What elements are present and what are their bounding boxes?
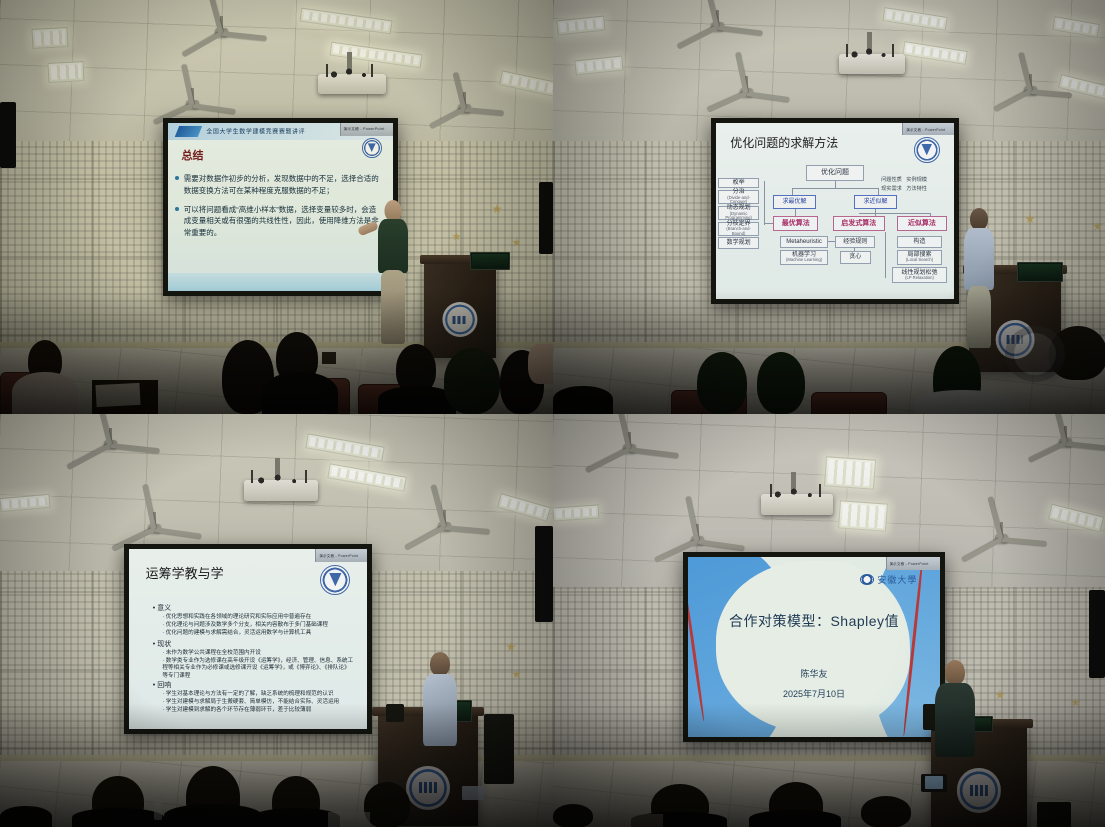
node-label-en: (Divide-and-Conquer) xyxy=(721,196,755,205)
diagram-node-divide-conquer: 分治 (Divide-and-Conquer) xyxy=(718,190,758,204)
diagram-node-machine-learning: 机器学习 (Machine Learning) xyxy=(780,250,828,265)
slide-subitem: · 学生对建模与求解局于生搬硬套、简单模仿，不能结合实际、灵活运用 xyxy=(162,699,352,707)
diagram-node-metaheuristic: Metaheuristic xyxy=(780,236,828,248)
meta-term: 问题性质 xyxy=(881,177,902,183)
ceiling-light xyxy=(838,500,888,531)
audience-head xyxy=(697,352,747,414)
slide-footer-band xyxy=(168,273,393,291)
node-label: 枚举 xyxy=(733,180,745,186)
slide-subitem: · 优化问题的建模与求解需结合，灵活运用数学与计算机工具 xyxy=(162,630,350,638)
presenter-torso xyxy=(423,674,457,746)
diagram-node-lp-relaxation: 线性规划松弛 (LP Relaxation) xyxy=(892,267,947,283)
slide-or-teaching: 演示文稿 - PowerPoint 运筹学教与学 • 意义 · 优化思想和实践在… xyxy=(129,549,367,729)
diagram-node-optimal-solution: 求最优解 xyxy=(773,195,816,209)
ceiling-fan xyxy=(957,522,1045,558)
ceiling-fan xyxy=(673,10,761,46)
window-label: 演示文稿 - PowerPoint xyxy=(319,553,367,558)
window-label: 演示文稿 - PowerPoint xyxy=(344,127,394,132)
presenter-legs xyxy=(381,270,405,344)
audience-head xyxy=(553,804,593,827)
audience-shoulders xyxy=(164,804,262,827)
node-label: 近似算法 xyxy=(908,220,936,227)
presenter-head xyxy=(385,200,402,221)
diagram-meta-terms: 问题性质 实例规模 现实需求 方法特性 xyxy=(864,176,945,194)
diagram-node-branch-bound: 分枝定界 (Branch-and-Bound) xyxy=(718,222,758,236)
presenter-head xyxy=(970,208,988,230)
microphone-base xyxy=(386,704,404,722)
photo-collage-grid: 全国大学生数学建模竞赛赛题讲评 演示文稿 - PowerPoint 总结 需要对… xyxy=(0,0,1105,827)
audience-laptop xyxy=(328,812,370,827)
powerpoint-window-bar: 演示文稿 - PowerPoint xyxy=(886,557,940,570)
node-label-en: (Machine Learning) xyxy=(786,258,822,262)
banner-title: 全国大学生数学建模竞赛赛题讲评 xyxy=(206,127,305,136)
slide-author: 陈华友 xyxy=(688,667,940,680)
meta-term: 方法特性 xyxy=(906,186,927,192)
audience-shoulders xyxy=(72,808,164,827)
diagram-connector xyxy=(764,181,765,225)
ceiling-fan xyxy=(150,88,234,122)
diagram-node-dynamic-programming: 动态规划 (Dynamic Programming) xyxy=(718,206,758,220)
camera-screen xyxy=(925,776,943,789)
diagram-node-construction: 构造 xyxy=(897,236,942,248)
diagram-connector xyxy=(885,232,886,278)
presenter-torso xyxy=(378,219,408,273)
audience-shoulders xyxy=(252,808,340,827)
projection-screen-frame: 全国大学生数学建模竞赛赛题讲评 演示文稿 - PowerPoint 总结 需要对… xyxy=(163,118,398,296)
podium-laptop xyxy=(470,252,510,270)
projection-screen-frame: 演示文稿 - PowerPoint 安徽大學 合作对策模型：Shapley值 陈… xyxy=(683,552,945,742)
camera-lens xyxy=(1005,326,1065,382)
diagram-connector xyxy=(878,188,879,195)
podium-laptop xyxy=(1017,262,1063,282)
node-label: 构造 xyxy=(913,239,925,245)
presenter-torso xyxy=(964,228,994,290)
audience-head xyxy=(757,352,805,414)
water-bottle xyxy=(154,800,162,820)
audience-hand xyxy=(528,344,553,384)
university-seal-icon xyxy=(914,137,940,163)
diagram-node-approx-solution: 求近似解 xyxy=(854,195,897,209)
powerpoint-window-bar: 演示文稿 - PowerPoint xyxy=(902,123,954,135)
wall-speaker xyxy=(0,102,16,168)
audience-head xyxy=(364,782,410,827)
diagram-root-node: 优化问题 xyxy=(806,165,863,181)
audience-shoulders xyxy=(0,806,52,827)
powerpoint-window-bar: 演示文稿 - PowerPoint xyxy=(340,123,394,136)
diagram-connector xyxy=(859,213,930,214)
diagram-node-heuristic-algorithm: 启发式算法 xyxy=(833,216,885,231)
slide-subitem: · 优化思想和实践在各领域的理论研究和实际应用中普遍存在 xyxy=(162,614,350,622)
diagram-connector xyxy=(835,181,836,188)
window-label: 演示文稿 - PowerPoint xyxy=(906,127,954,132)
slide-optimization-methods: 演示文稿 - PowerPoint 优化问题的求解方法 问题性质 实例规模 现实… xyxy=(716,123,954,299)
ceiling-fan xyxy=(1025,426,1105,458)
diagram-node-greedy: 贪心 xyxy=(840,251,871,263)
audience-shoulders xyxy=(553,386,613,414)
presenter xyxy=(931,660,979,820)
photo-panel-bottom-left[interactable]: 演示文稿 - PowerPoint 运筹学教与学 • 意义 · 优化思想和实践在… xyxy=(0,414,553,827)
photo-panel-bottom-right[interactable]: 演示文稿 - PowerPoint 安徽大學 合作对策模型：Shapley值 陈… xyxy=(553,414,1105,827)
slide-section-heading: • 现状 xyxy=(153,639,171,649)
photo-panel-top-left[interactable]: 全国大学生数学建模竞赛赛题讲评 演示文稿 - PowerPoint 总结 需要对… xyxy=(0,0,553,414)
ceiling-fan xyxy=(176,16,266,52)
node-label-en: (Branch-and-Bound) xyxy=(721,227,755,236)
bullet-text: 需要对数据作初步的分析，发现数据中的不足，选择合适的数据变换方法可在某种程度克服… xyxy=(184,174,379,195)
lecture-hall-room: 演示文稿 - PowerPoint 安徽大學 合作对策模型：Shapley值 陈… xyxy=(553,414,1105,827)
projection-screen: 演示文稿 - PowerPoint 运筹学教与学 • 意义 · 优化思想和实践在… xyxy=(129,549,367,729)
ceiling-fan xyxy=(581,432,677,470)
slide-subitem: · 数学类专业作为选修课在高年级开设《运筹学》，经济、管理、信息、系统工程等相关… xyxy=(162,658,355,681)
diagram-connector xyxy=(854,248,855,252)
audience-shoulders xyxy=(12,372,78,414)
node-label: 数学规划 xyxy=(727,240,751,246)
paper-cup xyxy=(356,356,366,370)
wall-speaker xyxy=(539,182,553,254)
bullet-text: 可以将问题看成“高维小样本”数据，选择变量较多时，会造成变量相关或有很强的共线性… xyxy=(184,205,379,237)
slide-title: 总结 xyxy=(182,147,204,163)
audience-shoulders xyxy=(262,372,338,414)
university-seal-icon xyxy=(320,565,350,595)
university-logo-icon xyxy=(860,574,874,585)
node-label: 求近似解 xyxy=(863,199,887,205)
diagram-connector xyxy=(792,188,793,195)
wall-speaker xyxy=(535,526,553,622)
ceiling-fan xyxy=(400,510,488,546)
meta-term: 现实需求 xyxy=(881,186,902,192)
ceiling-projector xyxy=(761,482,833,516)
node-label: 启发式算法 xyxy=(841,220,876,227)
diagram-node-empirical-rule: 经验规则 xyxy=(835,236,875,248)
ceiling-fan xyxy=(424,92,504,124)
audience-head xyxy=(861,796,911,827)
projection-screen-frame: 演示文稿 - PowerPoint 运筹学教与学 • 意义 · 优化思想和实践在… xyxy=(124,544,372,734)
ceiling-projector xyxy=(244,468,318,502)
lecture-hall-room: 演示文稿 - PowerPoint 运筹学教与学 • 意义 · 优化思想和实践在… xyxy=(0,414,553,827)
node-label: 求最优解 xyxy=(783,199,807,205)
diagram-connector xyxy=(792,188,878,189)
ceiling-projector xyxy=(839,42,905,74)
node-label-en: (Local Search) xyxy=(906,258,933,262)
presenter-head xyxy=(945,660,965,685)
lecture-hall-room: 演示文稿 - PowerPoint 优化问题的求解方法 问题性质 实例规模 现实… xyxy=(553,0,1105,414)
node-label: 最优算法 xyxy=(782,220,810,227)
slide-title-shapley: 演示文稿 - PowerPoint 安徽大學 合作对策模型：Shapley值 陈… xyxy=(688,557,940,737)
paper-on-desk xyxy=(95,383,140,407)
slide-main-title: 合作对策模型：Shapley值 xyxy=(688,611,940,631)
slide-inner-panel xyxy=(716,561,910,734)
audience-chair xyxy=(811,392,887,414)
meta-term: 实例规模 xyxy=(906,177,927,183)
projection-screen: 演示文稿 - PowerPoint 优化问题的求解方法 问题性质 实例规模 现实… xyxy=(716,123,954,299)
presenter xyxy=(959,208,999,348)
podium-university-seal xyxy=(442,302,477,337)
diagram-node-enumerate: 枚举 xyxy=(718,178,758,189)
ceiling-fan xyxy=(703,76,789,110)
presenter xyxy=(372,200,414,350)
projection-screen: 演示文稿 - PowerPoint 安徽大學 合作对策模型：Shapley值 陈… xyxy=(688,557,940,737)
slide-subitem: · 优化理论与问题涉及数学多个分支，相关内容散布于多门基础课程 xyxy=(162,622,350,630)
projection-screen-frame: 演示文稿 - PowerPoint 优化问题的求解方法 问题性质 实例规模 现实… xyxy=(711,118,959,304)
diagram-node-approx-algorithm: 近似算法 xyxy=(897,216,947,231)
audience-head xyxy=(444,348,500,414)
banner-flash-shape xyxy=(175,126,202,137)
slide-subitem: · 未作为数学公共课程在全校范围内开设 xyxy=(162,650,350,658)
ceiling-light xyxy=(48,61,85,83)
node-label: Metaheuristic xyxy=(786,239,822,245)
diagram-node-math-programming: 数学规划 xyxy=(718,237,758,248)
slide-section-heading: • 意义 xyxy=(153,603,171,613)
node-label-en: (LP Relaxation) xyxy=(905,276,934,280)
audience-shoulders xyxy=(915,390,1011,414)
audience-shoulders xyxy=(749,810,841,827)
ceiling-fan xyxy=(62,428,158,466)
slide-title: 优化问题的求解方法 xyxy=(730,134,838,151)
node-label: 贪心 xyxy=(849,254,861,260)
wall-speaker xyxy=(1089,590,1105,678)
slide-bullet: 可以将问题看成“高维小样本”数据，选择变量较多时，会造成变量相关或有很强的共线性… xyxy=(184,204,380,239)
university-seal-icon xyxy=(362,138,382,158)
university-logo: 安徽大學 xyxy=(860,573,917,586)
photo-panel-top-right[interactable]: 演示文稿 - PowerPoint 优化问题的求解方法 问题性质 实例规模 现实… xyxy=(553,0,1105,414)
slide-title: 运筹学教与学 xyxy=(146,563,224,582)
slide-subitem: · 学生对基本理论与方法有一定的了解，缺乏系统的梳理和规范的认识 xyxy=(162,691,352,699)
diagram-node-optimal-algorithm: 最优算法 xyxy=(773,216,818,231)
slide-summary: 全国大学生数学建模竞赛赛题讲评 演示文稿 - PowerPoint 总结 需要对… xyxy=(168,123,393,291)
diagram-connector xyxy=(764,223,774,224)
powerpoint-window-bar: 演示文稿 - PowerPoint xyxy=(315,549,367,562)
diagram-connector xyxy=(828,241,835,242)
control-panel-screen xyxy=(462,786,484,800)
ceiling-light xyxy=(32,27,69,49)
projection-screen: 全国大学生数学建模竞赛赛题讲评 演示文稿 - PowerPoint 总结 需要对… xyxy=(168,123,393,291)
slide-subitem: · 学生对建模到求解的各个环节存在薄弱环节，差于比较薄弱 xyxy=(162,707,352,715)
node-label: 优化问题 xyxy=(821,169,849,176)
university-logo-text: 安徽大學 xyxy=(877,573,917,586)
slide-date: 2025年7月10日 xyxy=(688,687,940,700)
slide-section-heading: • 回响 xyxy=(153,680,171,690)
control-rack xyxy=(484,714,514,784)
window-label: 演示文稿 - PowerPoint xyxy=(890,561,940,566)
lecture-hall-room: 全国大学生数学建模竞赛赛题讲评 演示文稿 - PowerPoint 总结 需要对… xyxy=(0,0,553,414)
presenter-head xyxy=(430,652,450,676)
ceiling-fan xyxy=(108,512,200,548)
audience-bench xyxy=(593,814,663,827)
ceiling-projector xyxy=(318,62,386,94)
diagram-node-local-search: 局部搜索 (Local Search) xyxy=(897,250,942,265)
presenter xyxy=(418,652,462,812)
presenter-legs xyxy=(967,286,991,348)
node-label: 经验规则 xyxy=(843,239,867,245)
node-label-en: (Dynamic Programming) xyxy=(721,212,755,221)
slide-bullet: 需要对数据作初步的分析，发现数据中的不足，选择合适的数据变换方法可在某种程度克服… xyxy=(184,173,380,196)
equipment-box xyxy=(1037,802,1071,827)
ceiling-fan xyxy=(989,74,1071,108)
diagram-connector xyxy=(795,209,796,216)
podium xyxy=(424,262,496,358)
presenter-torso xyxy=(935,683,975,757)
drink-cup xyxy=(322,352,336,364)
